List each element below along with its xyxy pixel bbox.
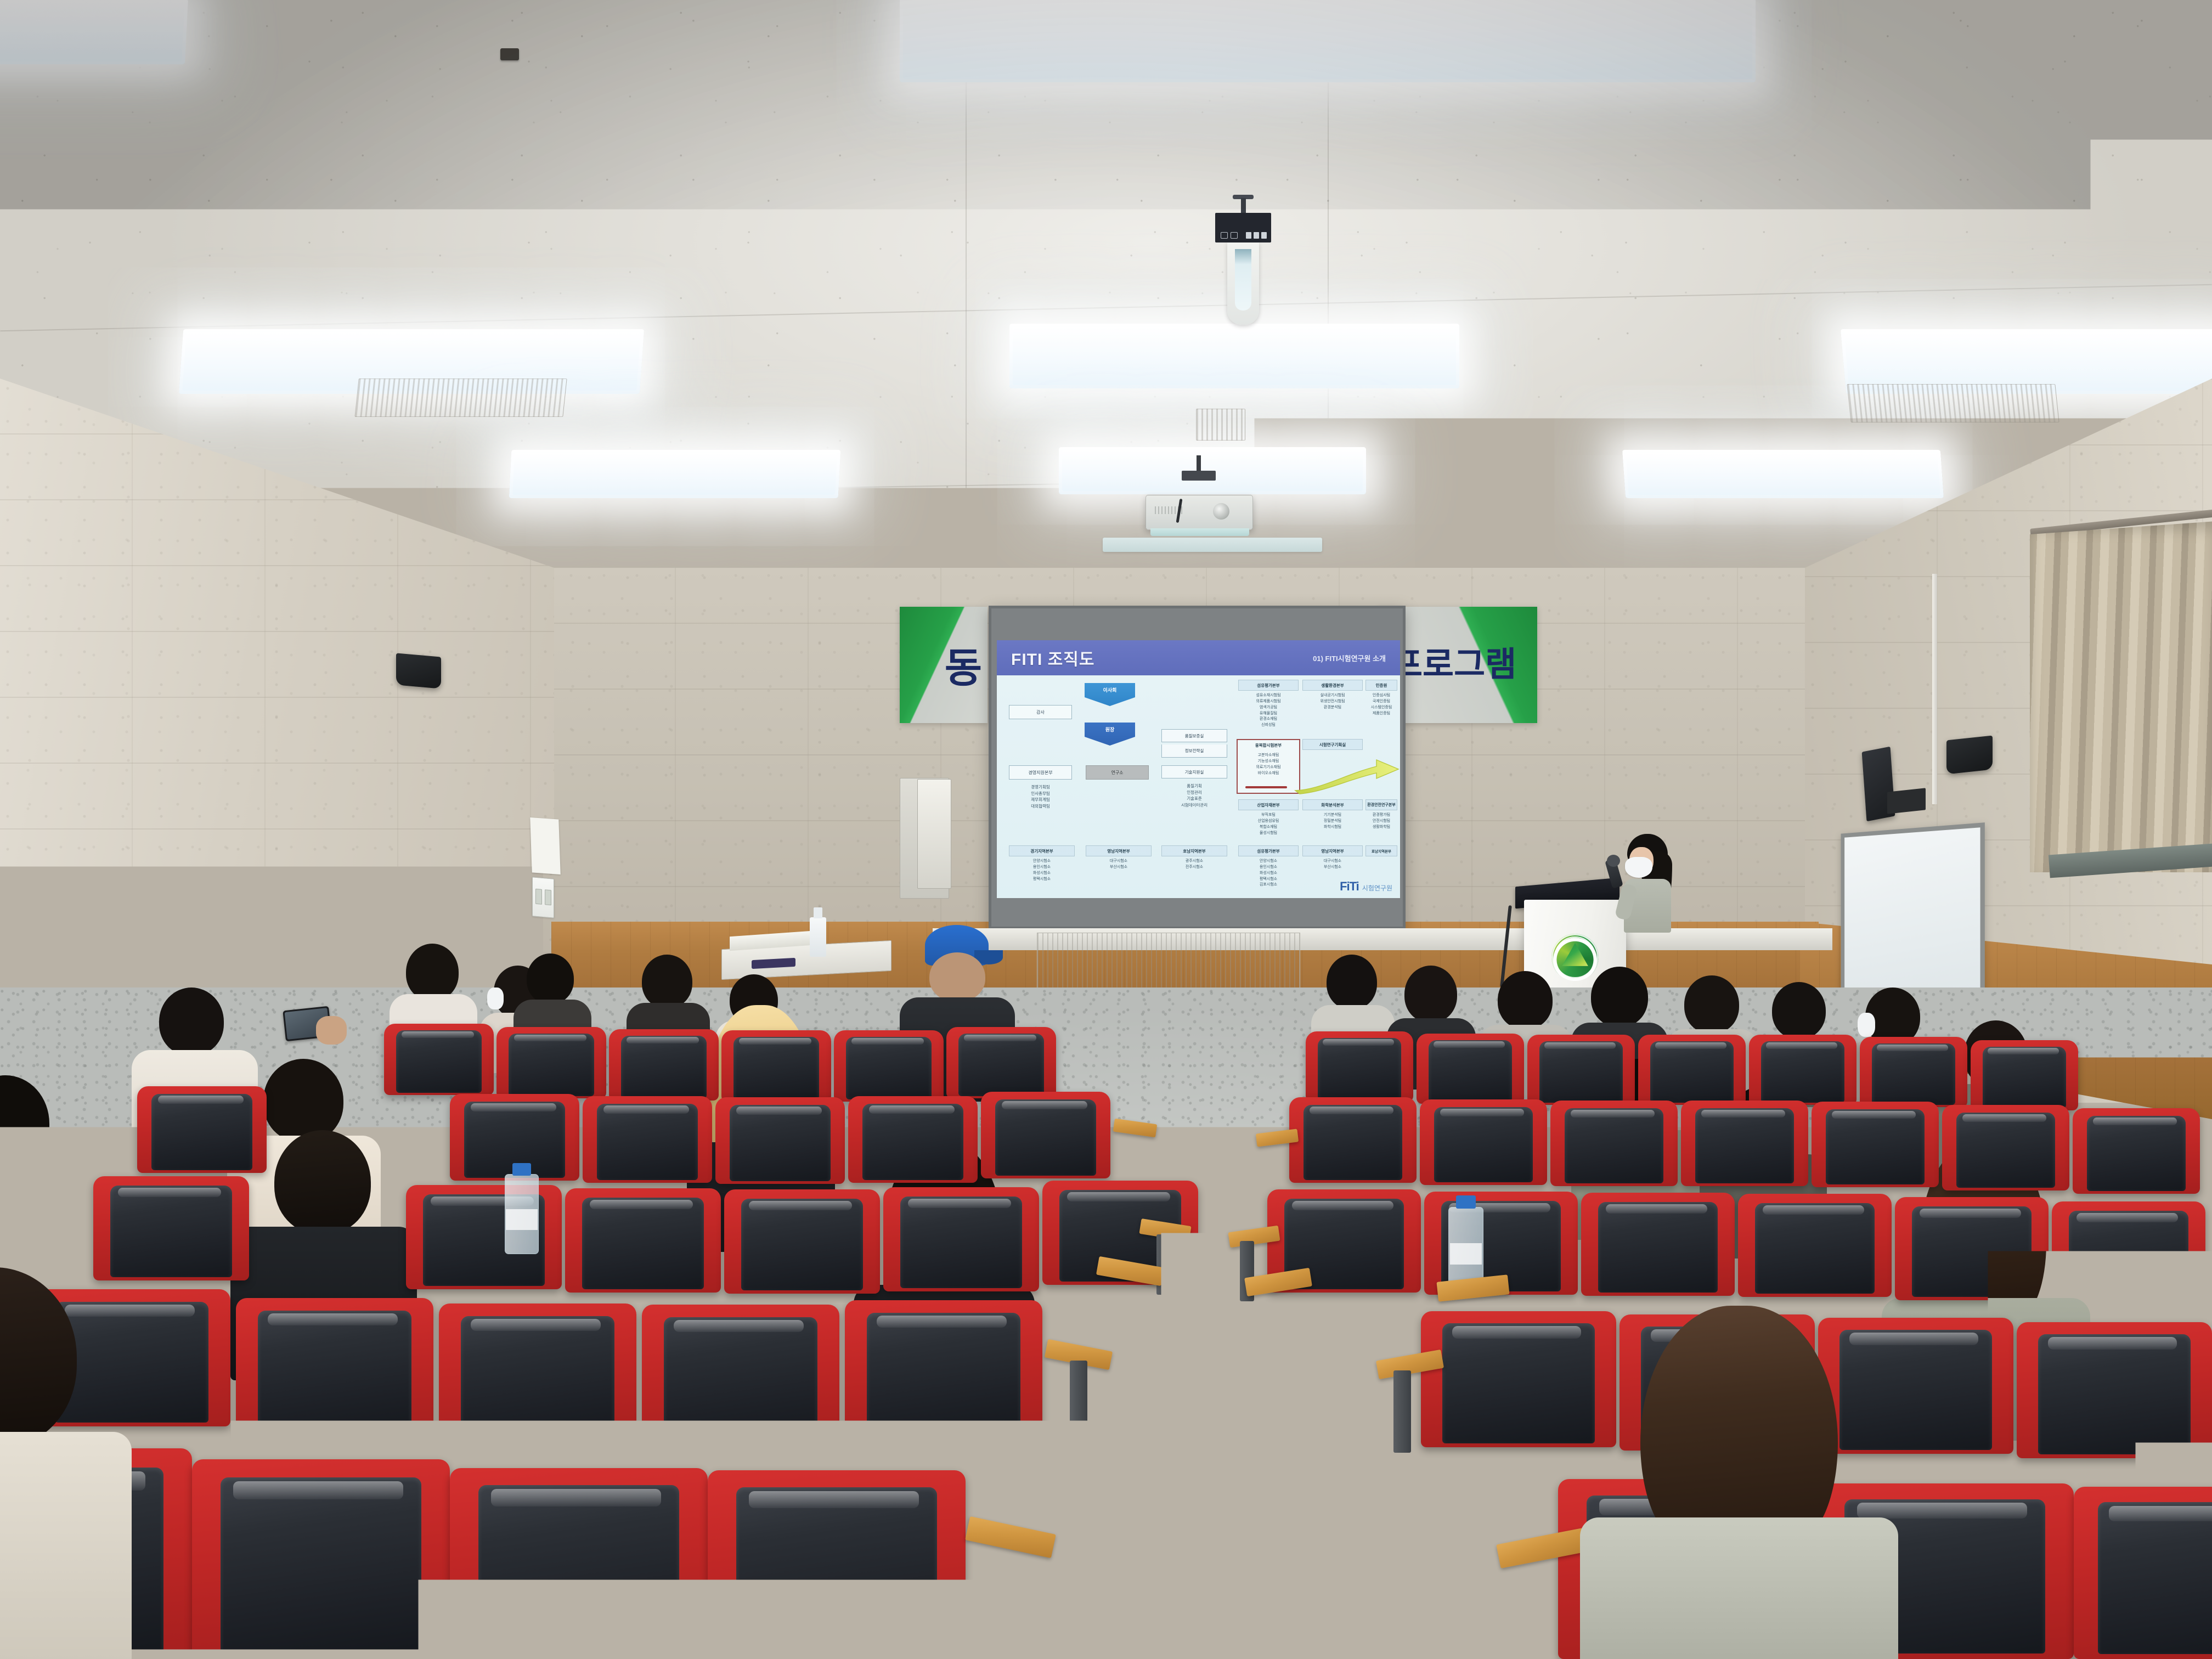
radiator: [1037, 933, 1300, 993]
org-group-items: 대구시험소부산시험소: [1086, 856, 1152, 871]
head: [527, 953, 574, 1004]
seat[interactable]: [1738, 1194, 1892, 1297]
light-switch-panel[interactable]: [532, 877, 554, 918]
org-group-items: 부직포팀산업용섬유팀 복합소재팀물성시험팀: [1238, 810, 1299, 836]
org-group: 섬유평가본부 안양시험소용인시험소 화성시험소평택시험소 김포시험소: [1238, 845, 1299, 888]
seat[interactable]: [583, 1096, 712, 1183]
seat[interactable]: [1860, 1037, 1967, 1107]
seat[interactable]: [1749, 1035, 1857, 1105]
slide-body: 이사회 원장 감사 경영지원본부 경영기획팀 인사총무팀 재무회계팀 대외협력: [997, 675, 1400, 898]
org-items-col2: 품질기획 인정관리 기술표준 시험데이터관리: [1161, 783, 1227, 809]
org-group: 화학분석본부 기기분석팀정밀분석팀화학시험팀: [1302, 799, 1363, 831]
presenter-face-mask: [1625, 857, 1652, 878]
org-group-header: 섬유평가본부: [1238, 845, 1299, 856]
seat[interactable]: [1420, 1099, 1547, 1185]
head: [159, 988, 224, 1056]
org-items-support: 경영기획팀 인사총무팀 재무회계팀 대외협력팀: [1009, 784, 1072, 810]
slide-title: FITI 조직도: [1011, 646, 1094, 670]
aisle-step: [1114, 1503, 1520, 1510]
org-group-items: 광주시험소전주시험소: [1161, 856, 1227, 871]
org-group-items: 섬유소재시험팀의류제품시험팀 염색가공팀유해물질팀 환경소재팀신뢰성팀: [1238, 691, 1299, 729]
org-group-header: 영남지역본부: [1302, 845, 1363, 856]
org-group-header: 환경안전연구본부: [1365, 799, 1397, 810]
fiti-logo: FiTi 시험연구원: [1340, 879, 1392, 894]
seat[interactable]: [384, 1024, 494, 1095]
seat[interactable]: [2052, 1201, 2205, 1305]
seat[interactable]: [1942, 1105, 2069, 1190]
presenter: [1612, 834, 1694, 933]
seat-post: [1070, 1361, 1087, 1443]
water-bottle[interactable]: [1448, 1207, 1483, 1289]
auditorium-scene: 동 프로그램 FITI 조직도 01) FITI시험연구원 소개 이사회 원장: [0, 0, 2212, 1659]
org-box-audit: 감사: [1009, 705, 1072, 719]
org-box-support-hq: 경영지원본부: [1009, 765, 1072, 780]
org-group-header: 호남지역본부: [1161, 845, 1227, 856]
seat[interactable]: [192, 1459, 450, 1659]
seat[interactable]: [1681, 1101, 1808, 1186]
highlight-underline: [1245, 786, 1287, 788]
head: [1684, 975, 1739, 1034]
org-box-info: 정보전략실: [1161, 744, 1227, 758]
banner-right-text: 프로그램: [1391, 636, 1516, 686]
banner-left-text: 동: [945, 635, 982, 694]
seat[interactable]: [565, 1188, 721, 1293]
hand: [316, 1016, 347, 1045]
wall-notice: [530, 817, 560, 874]
seat[interactable]: [1289, 1097, 1417, 1183]
org-group-header: 생활환경본부: [1302, 680, 1363, 691]
wall-speaker-left: [396, 653, 441, 689]
head: [1327, 955, 1377, 1009]
org-group-items: 인증심사팀국제인증팀 시스템인증팀제품인증팀: [1365, 691, 1397, 716]
seat[interactable]: [1421, 1311, 1616, 1447]
seat[interactable]: [845, 1300, 1042, 1437]
head: [274, 1130, 371, 1234]
seat[interactable]: [137, 1086, 267, 1173]
org-group-header: 영남지역본부: [1086, 845, 1152, 856]
org-group-items: 대구시험소부산시험소: [1302, 856, 1363, 871]
ceiling-light: [1622, 450, 1944, 498]
seat[interactable]: [981, 1092, 1110, 1178]
fiti-logo-text: 시험연구원: [1362, 883, 1392, 893]
org-group: 환경안전연구본부 환경평가팀안전시험팀생활화학팀: [1365, 799, 1397, 831]
org-group: 경기지역본부 안양시험소용인시험소 화성시험소평택시험소: [1009, 845, 1075, 882]
seat[interactable]: [1527, 1035, 1635, 1105]
slide-subtitle: 01) FITI시험연구원 소개: [1313, 653, 1386, 663]
seat[interactable]: [1818, 1318, 2013, 1454]
seat[interactable]: [609, 1029, 719, 1101]
org-group-header: 화학분석본부: [1302, 799, 1363, 810]
seat[interactable]: [1550, 1101, 1678, 1186]
door-lock-icon: [748, 915, 760, 927]
wall-speaker-right-b: [1946, 736, 1993, 775]
slide-header: FITI 조직도 01) FITI시험연구원 소개: [997, 640, 1400, 675]
ceiling-light-strip: [1103, 538, 1322, 552]
org-group: 생활환경본부 실내공기시험팀위생안전시험팀환경분석팀: [1302, 680, 1363, 711]
seat[interactable]: [1306, 1031, 1413, 1102]
seat[interactable]: [715, 1097, 845, 1184]
window-curtain: [2030, 521, 2212, 872]
org-group: 인증원 인증심사팀국제인증팀 시스템인증팀제품인증팀: [1365, 680, 1397, 716]
air-vent: [1196, 409, 1245, 441]
projection-screen-frame: FITI 조직도 01) FITI시험연구원 소개 이사회 원장 감사 경영: [989, 606, 1406, 929]
org-node-director: 원장: [1085, 723, 1135, 746]
org-group-header: 경기지역본부: [1009, 845, 1075, 856]
seat[interactable]: [721, 1030, 831, 1102]
seat[interactable]: [2074, 1487, 2212, 1659]
org-group-highlighted: 융복합시험본부 고분자소재팀기능성소재팀 의료기기소재팀바이오소재팀: [1237, 739, 1300, 794]
ceiling-light: [509, 450, 841, 498]
side-cabinet: [878, 770, 911, 902]
air-vent: [1847, 384, 2059, 422]
fiti-logo-mark: FiTi: [1340, 879, 1359, 894]
door-handle[interactable]: [716, 918, 741, 926]
seat[interactable]: [946, 1027, 1056, 1098]
seat[interactable]: [1895, 1197, 2049, 1300]
head: [263, 1059, 343, 1142]
seat[interactable]: [450, 1468, 708, 1659]
org-group: 호남지역본부: [1365, 845, 1397, 856]
head: [1498, 971, 1553, 1029]
ceiling-light: [1009, 324, 1459, 388]
org-group-items: 환경평가팀안전시험팀생활화학팀: [1365, 810, 1397, 831]
org-group: 섬유평가본부 섬유소재시험팀의류제품시험팀 염색가공팀유해물질팀 환경소재팀신뢰…: [1238, 680, 1299, 729]
light-switch-panel[interactable]: [359, 868, 390, 915]
seat[interactable]: [93, 1176, 249, 1280]
org-group-header: 섬유평가본부: [1238, 680, 1299, 691]
head: [1591, 967, 1648, 1027]
seat[interactable]: [1971, 1040, 2078, 1110]
head: [1772, 982, 1826, 1039]
seat[interactable]: [848, 1096, 978, 1183]
seat[interactable]: [642, 1305, 839, 1442]
door-hinge-icon: [743, 890, 754, 902]
org-box-research-institute: 연구소: [1086, 765, 1149, 780]
seat[interactable]: [496, 1027, 606, 1098]
seat[interactable]: [439, 1304, 636, 1441]
org-group-header: 산업자재본부: [1238, 799, 1299, 810]
org-group-header: 융복합시험본부: [1238, 740, 1299, 751]
double-door[interactable]: [609, 775, 867, 994]
seat[interactable]: [2073, 1108, 2200, 1194]
seat[interactable]: [2017, 1322, 2212, 1458]
banner-left: 동: [900, 607, 988, 723]
ceiling-seam: [1328, 0, 1329, 582]
seat[interactable]: [1417, 1034, 1524, 1104]
seat[interactable]: [834, 1030, 944, 1102]
seat[interactable]: [883, 1187, 1039, 1291]
smoke-detector-icon: [500, 48, 519, 60]
speaker-bracket: [1887, 788, 1926, 814]
ceiling-light: [900, 0, 1756, 82]
org-group-header: 호남지역본부: [1365, 845, 1397, 856]
projection-screen: FITI 조직도 01) FITI시험연구원 소개 이사회 원장 감사 경영: [997, 640, 1400, 898]
callout-arrow-icon: [1293, 746, 1400, 796]
ceiling-light: [0, 0, 188, 64]
org-node-board: 이사회: [1085, 683, 1135, 706]
ceiling-seam: [966, 0, 967, 582]
head: [1404, 966, 1457, 1023]
microphone-head: [1607, 855, 1620, 867]
org-group-items: 실내공기시험팀위생안전시험팀환경분석팀: [1302, 691, 1363, 711]
org-group-items: 안양시험소용인시험소 화성시험소평택시험소 김포시험소: [1238, 856, 1299, 888]
seat[interactable]: [236, 1298, 433, 1435]
seat[interactable]: [1812, 1102, 1939, 1187]
org-box-quality: 품질보증실: [1161, 729, 1227, 742]
org-group-header: 인증원: [1365, 680, 1397, 691]
org-group: 영남지역본부 대구시험소부산시험소: [1302, 845, 1363, 871]
org-group: 영남지역본부 대구시험소부산시험소: [1086, 845, 1152, 871]
seat-post: [1393, 1370, 1411, 1453]
shoulders: [0, 1432, 132, 1659]
shoulders: [1580, 1517, 1898, 1659]
org-group-items: 안양시험소용인시험소 화성시험소평택시험소: [1009, 856, 1075, 882]
front-cabinet: [917, 779, 951, 889]
hair: [1640, 1306, 1838, 1542]
head: [406, 944, 459, 1001]
air-vent: [354, 379, 567, 417]
org-box-techsupport: 기술지원실: [1161, 765, 1227, 778]
org-group: 산업자재본부 부직포팀산업용섬유팀 복합소재팀물성시험팀: [1238, 799, 1299, 836]
conduit-pipe: [1932, 574, 1937, 804]
seat[interactable]: [1581, 1193, 1735, 1296]
head: [929, 952, 985, 1002]
org-group-items: 기기분석팀정밀분석팀화학시험팀: [1302, 810, 1363, 831]
seat[interactable]: [1638, 1035, 1746, 1105]
seat[interactable]: [708, 1470, 966, 1659]
school-emblem: [1551, 934, 1599, 981]
org-group-items: 고분자소재팀기능성소재팀 의료기기소재팀바이오소재팀: [1238, 751, 1299, 776]
org-group: 호남지역본부 광주시험소전주시험소: [1161, 845, 1227, 871]
seat[interactable]: [724, 1189, 880, 1294]
